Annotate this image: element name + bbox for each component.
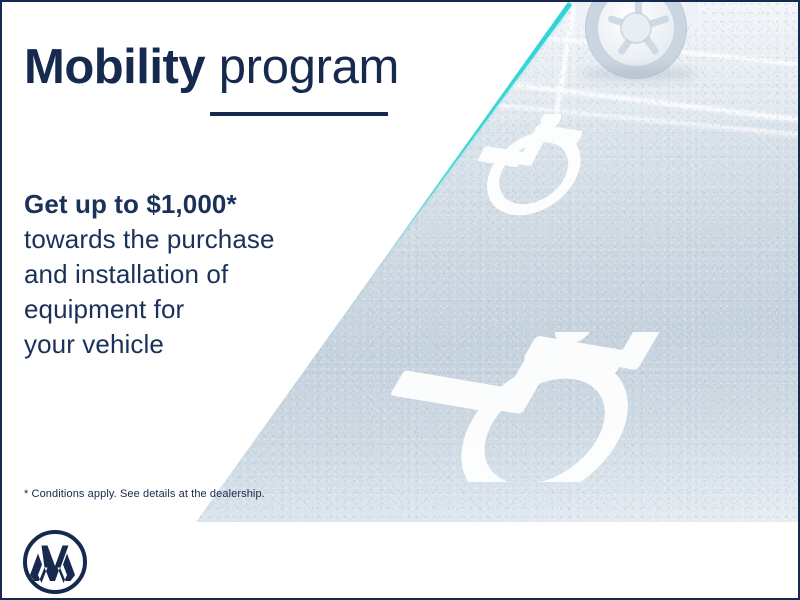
wheelchair-symbol-large bbox=[280, 332, 710, 482]
volkswagen-logo bbox=[22, 529, 88, 595]
title-bold-word: Mobility bbox=[24, 40, 205, 94]
car-shadow bbox=[580, 68, 698, 80]
title-underline bbox=[210, 112, 388, 116]
title-light-word: program bbox=[219, 40, 399, 94]
photo-bottom-fade bbox=[2, 580, 798, 598]
offer-copy: Get up to $1,000* towards the purchase a… bbox=[24, 187, 275, 362]
car-wheel bbox=[562, 2, 798, 79]
offer-lead-line: Get up to $1,000* bbox=[24, 187, 275, 222]
offer-line: towards the purchase bbox=[24, 222, 275, 257]
wheelchair-symbol-small bbox=[454, 114, 639, 219]
promotional-banner: Mobility program Get up to $1,000* towar… bbox=[0, 0, 800, 600]
offer-line: equipment for bbox=[24, 292, 275, 327]
offer-line: and installation of bbox=[24, 257, 275, 292]
wheel-hub bbox=[622, 14, 650, 42]
offer-line: your vehicle bbox=[24, 327, 275, 362]
page-title: Mobility program bbox=[24, 42, 399, 93]
disclaimer-text: * Conditions apply. See details at the d… bbox=[24, 488, 265, 500]
